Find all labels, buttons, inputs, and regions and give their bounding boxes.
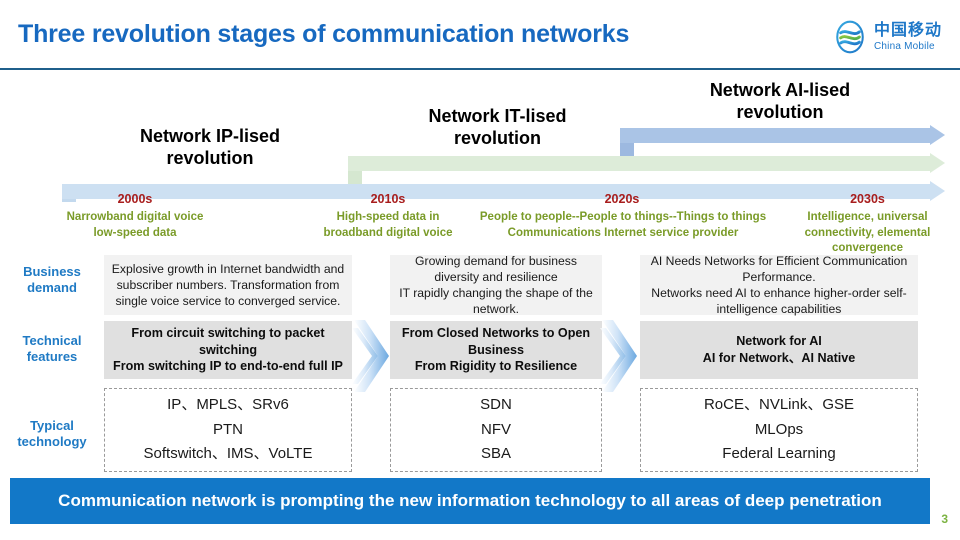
cell-technical-features-ai: Network for AI AI for Network、AI Native: [640, 321, 918, 379]
timeline-arrow-bars: [0, 120, 960, 200]
china-mobile-logo-icon: [833, 20, 867, 54]
row-label-typical-technology: Typical technology: [6, 418, 98, 451]
timeline-column-2020s: 2020s People to people--People to things…: [458, 193, 788, 241]
logo-wordmark: 中国移动 China Mobile: [874, 23, 942, 52]
double-chevron-right-icon: [352, 318, 396, 394]
cell-technical-features-ip: From circuit switching to packet switchi…: [104, 321, 352, 379]
timeline-description: People to people--People to things--Thin…: [458, 210, 788, 242]
cell-business-demand-ip: Explosive growth in Internet bandwidth a…: [104, 255, 352, 315]
arrow-bar-tip: [930, 125, 945, 145]
slide-header: Three revolution stages of communication…: [0, 0, 960, 69]
arrow-bar-tip: [930, 153, 945, 173]
timeline-decade: 2000s: [35, 193, 235, 207]
double-chevron-right-icon: [600, 318, 644, 394]
timeline-description: Intelligence, universal connectivity, el…: [790, 210, 945, 258]
arrow-bar-body: [348, 156, 931, 171]
page-title: Three revolution stages of communication…: [18, 20, 629, 49]
arrow-bar-ai-stage: [620, 128, 945, 143]
timeline-column-2000s: 2000s Narrowband digital voice low-speed…: [35, 193, 235, 241]
cell-business-demand-ai: AI Needs Networks for Efficient Communic…: [640, 255, 918, 315]
summary-banner-text: Communication network is prompting the n…: [58, 490, 882, 512]
timeline-labels: 2000s Narrowband digital voice low-speed…: [0, 193, 960, 253]
cell-typical-technology-ai: RoCE、NVLink、GSE MLOps Federal Learning: [640, 388, 918, 472]
timeline-decade: 2020s: [456, 193, 788, 207]
header-divider: [0, 68, 960, 70]
logo-english-name: China Mobile: [874, 42, 942, 52]
cell-typical-technology-ip: IP、MPLS、SRv6 PTN Softswitch、IMS、VoLTE: [104, 388, 352, 472]
logo-chinese-name: 中国移动: [874, 23, 942, 39]
arrow-bar-it-stage: [348, 156, 945, 171]
summary-banner: Communication network is prompting the n…: [10, 478, 930, 524]
cell-typical-technology-it: SDN NFV SBA: [390, 388, 602, 472]
page-number: 3: [941, 512, 948, 526]
row-label-technical-features: Technical features: [6, 333, 98, 366]
stage-heading-ai: Network AI-lised revolution: [680, 80, 880, 124]
cell-business-demand-it: Growing demand for business diversity an…: [390, 255, 602, 315]
row-label-business-demand: Business demand: [6, 264, 98, 297]
timeline-decade: 2030s: [790, 193, 945, 207]
china-mobile-logo: 中国移动 China Mobile: [833, 20, 942, 54]
timeline-column-2030s: 2030s Intelligence, universal connectivi…: [790, 193, 945, 257]
arrow-bar-body: [620, 128, 931, 143]
timeline-description: Narrowband digital voice low-speed data: [35, 210, 235, 242]
cell-technical-features-it: From Closed Networks to Open Business Fr…: [390, 321, 602, 379]
